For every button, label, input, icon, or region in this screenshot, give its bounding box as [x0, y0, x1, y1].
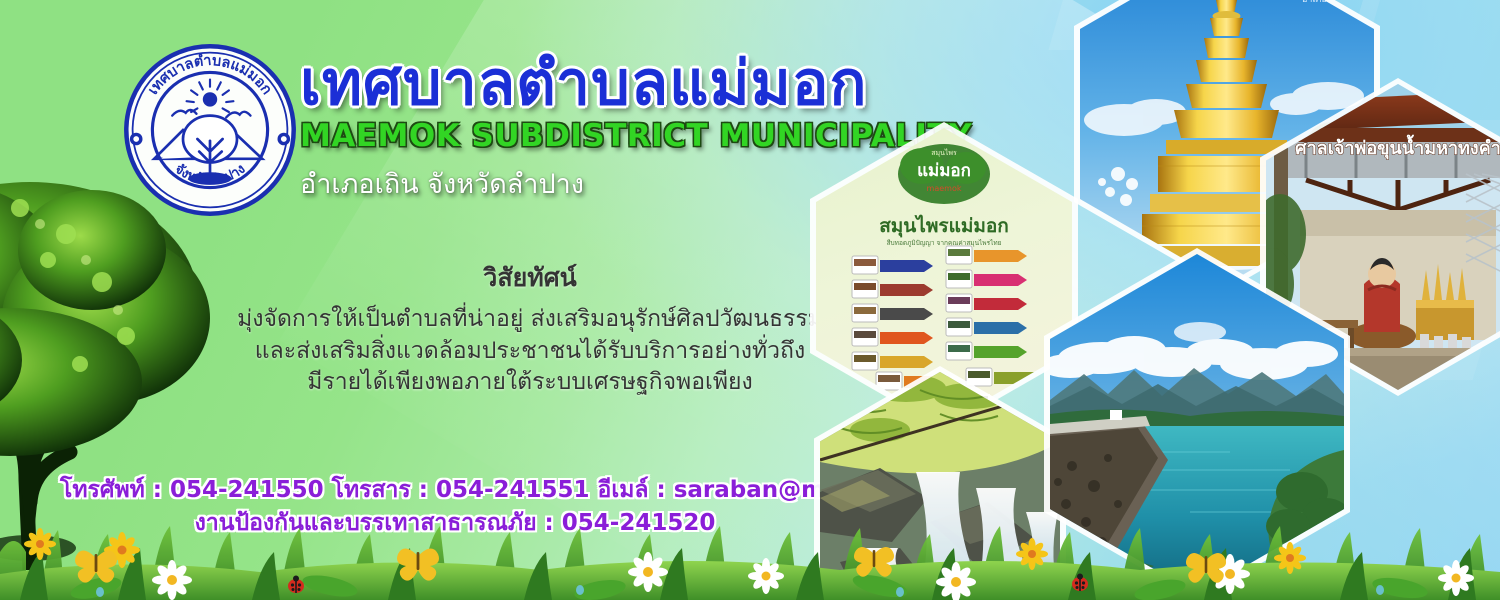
- vision-line-1: มุ่งจัดการให้เป็นตำบลที่น่าอยู่ ส่งเสริม…: [200, 304, 860, 336]
- vision-statement: วิสัยทัศน์ มุ่งจัดการให้เป็นตำบลที่น่าอย…: [200, 258, 860, 399]
- hexagon-photo-collage: แม่มอก maemok สมุนไพร สมุนไพรแม่มอก สืบท…: [800, 0, 1500, 600]
- vision-line-3: มีรายได้เพียงพอภายใต้ระบบเศรษฐกิจพอเพียง: [200, 367, 860, 399]
- svg-text:อำเภอ: อำเภอ: [1302, 0, 1327, 5]
- municipality-banner: เทศบาลตำบลแม่มอก จังหวัดลำปาง: [0, 0, 1500, 600]
- herbal-subcaption: สืบทอดภูมิปัญญา จากคุณค่าสมุนไพรไทย: [887, 239, 1002, 247]
- herbal-caption: สมุนไพรแม่มอก: [879, 214, 1009, 238]
- municipality-seal: เทศบาลตำบลแม่มอก จังหวัดลำปาง: [120, 40, 300, 220]
- contact-line-phone-fax-email: โทรศัพท์ : 054-241550 โทรสาร : 054-24155…: [60, 474, 850, 507]
- vision-line-2: และส่งเสริมสิ่งแวดล้อมประชาชนได้รับบริกา…: [200, 336, 860, 368]
- shrine-caption: ศาลเจ้าพ่อขุนน้ำมหาทงคำ: [1295, 134, 1500, 160]
- vision-heading: วิสัยทัศน์: [200, 258, 860, 298]
- svg-text:maemok: maemok: [927, 184, 962, 193]
- grass-flower-strip: [0, 512, 1500, 600]
- herbal-logo-text: แม่มอก: [917, 161, 971, 181]
- svg-text:สมุนไพร: สมุนไพร: [931, 148, 957, 157]
